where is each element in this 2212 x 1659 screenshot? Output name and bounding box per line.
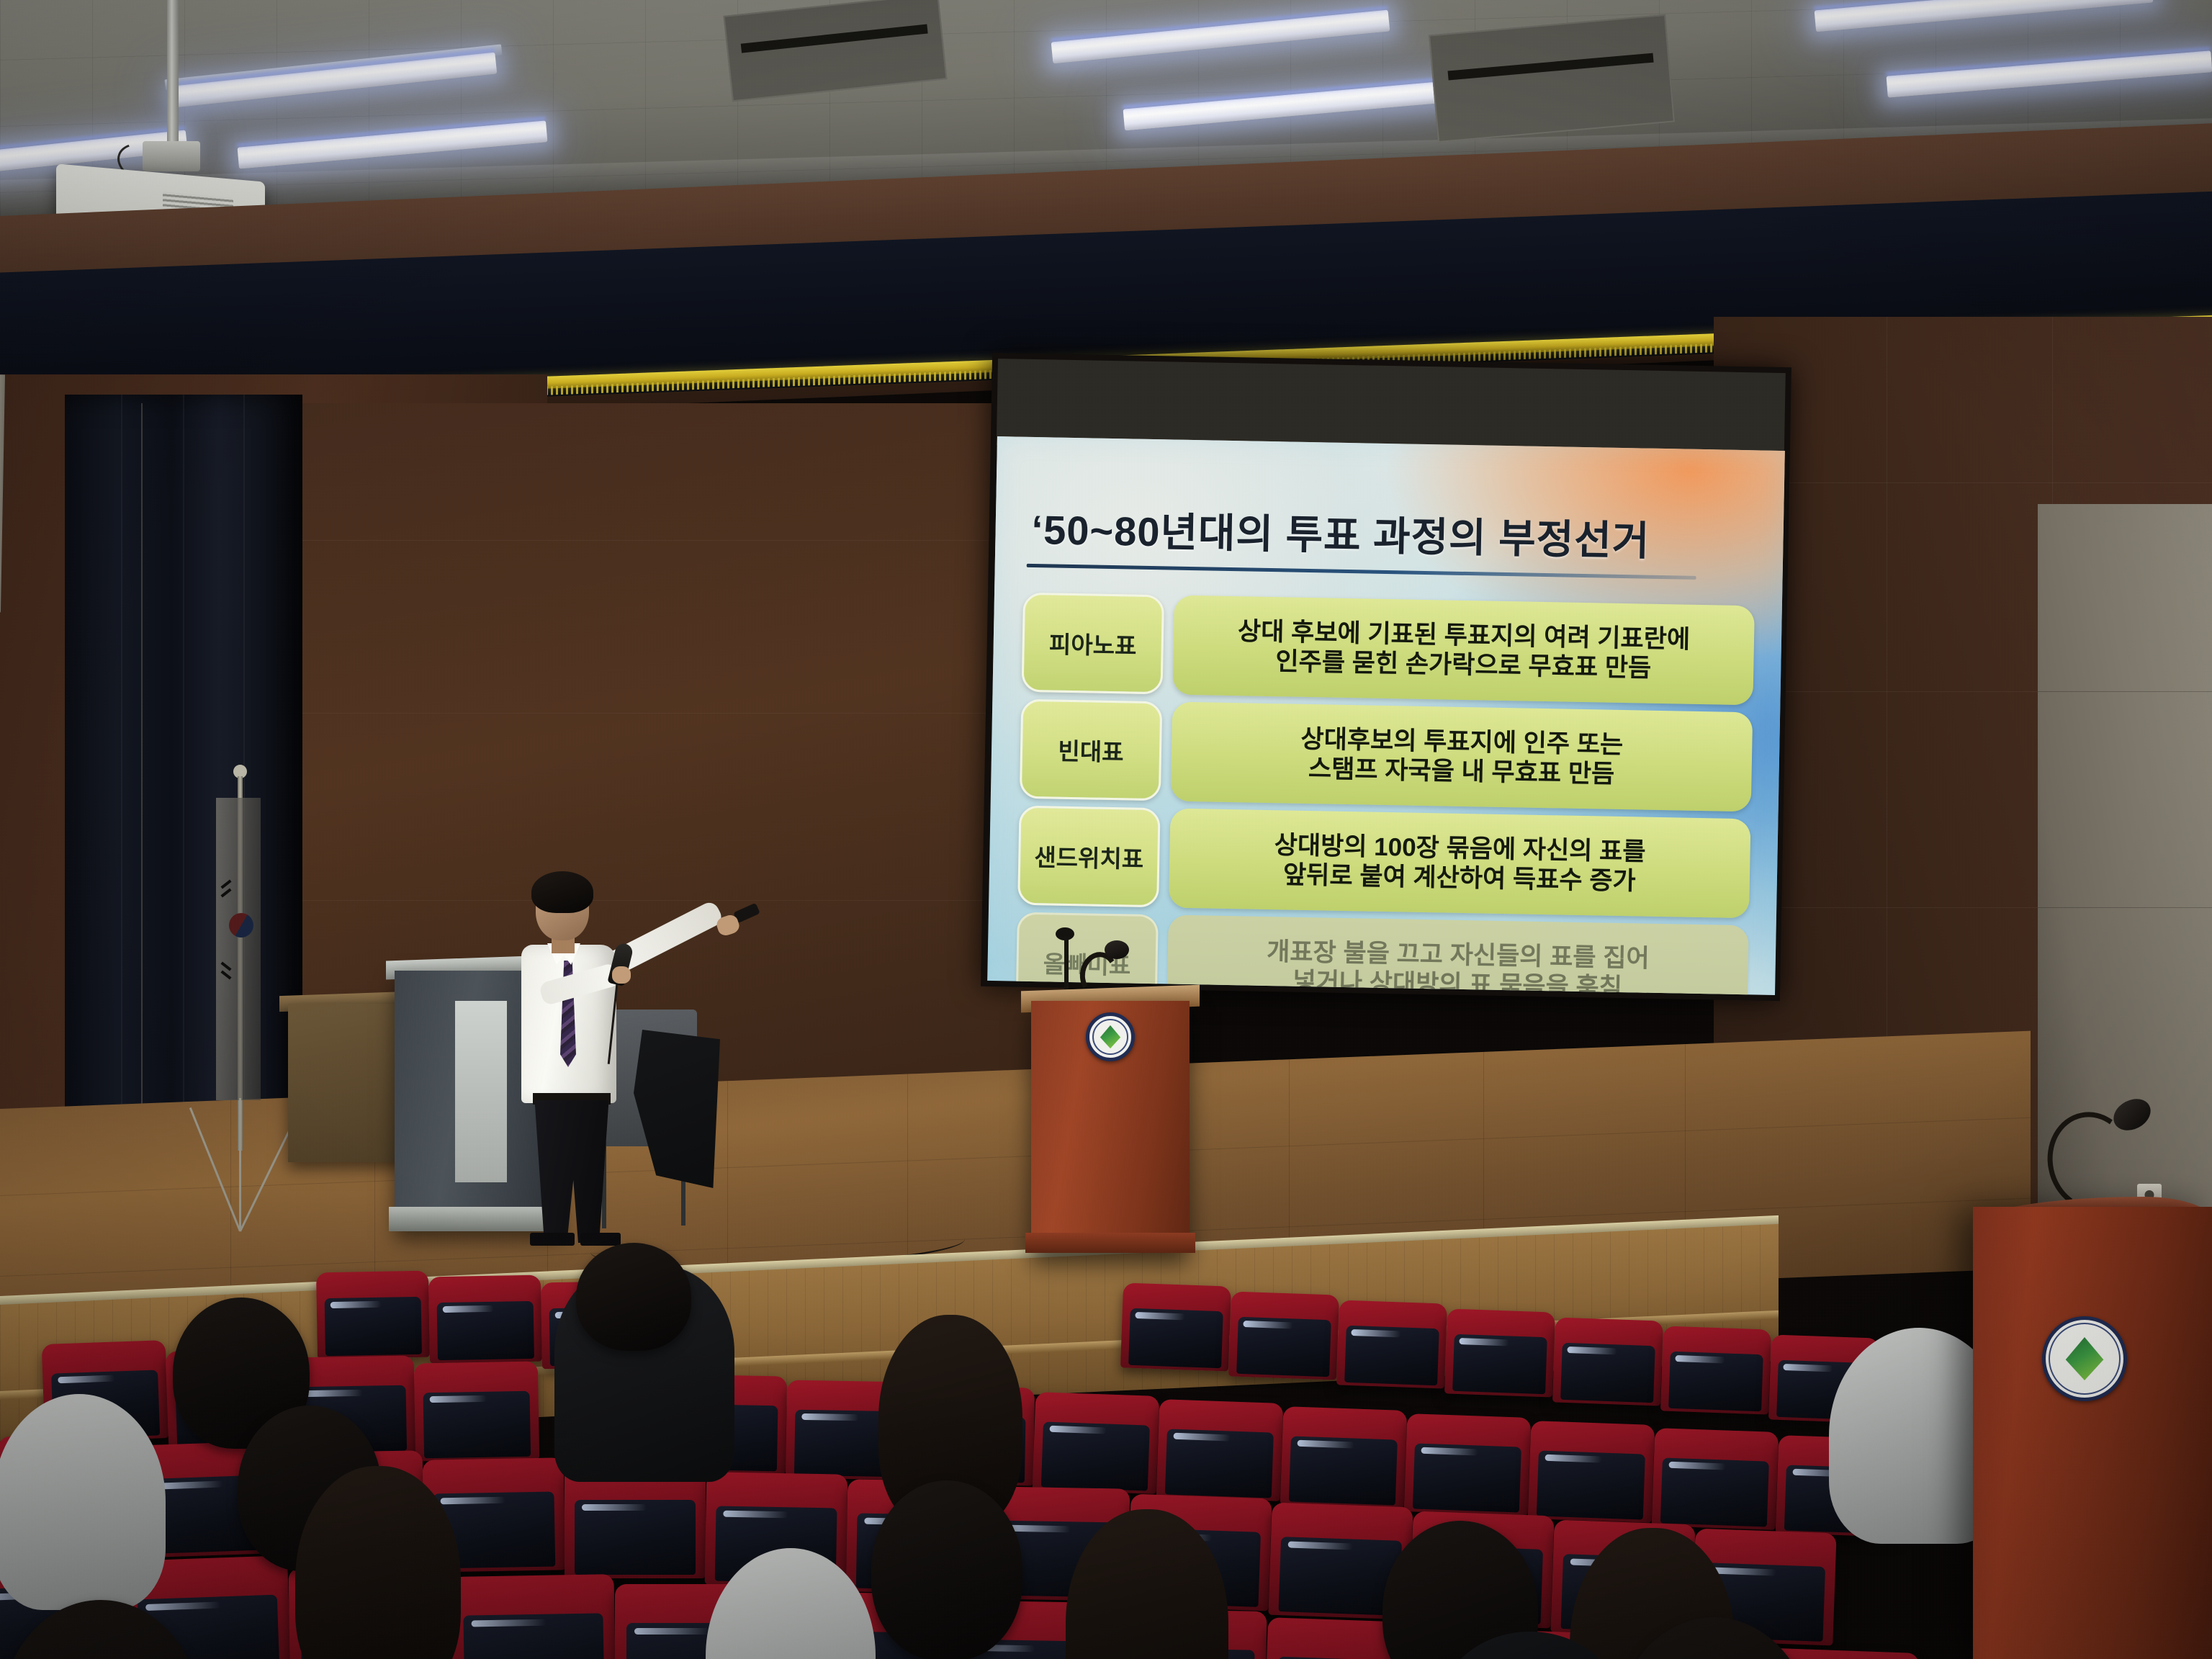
auditorium-seat — [1404, 1413, 1532, 1516]
microphone-capsule — [1105, 940, 1129, 959]
slide-row-term: 빈대표 — [1020, 699, 1162, 801]
slide-row-description: 상대 후보에 기표된 투표지의 여려 기표란에 인주를 묻힌 손가락으로 무효표… — [1172, 595, 1754, 706]
audience-member — [576, 1243, 691, 1351]
institutional-emblem — [2042, 1316, 2127, 1401]
slide-row-term: 샌드위치표 — [1017, 806, 1160, 908]
audience-member — [0, 1394, 166, 1610]
auditorium-seat — [1552, 1317, 1663, 1406]
slide-row-line2: 인주를 묻힌 손가락으로 무효표 만듬 — [1275, 647, 1652, 683]
presenter-trousers — [531, 1100, 612, 1243]
presenter-shoe — [580, 1233, 621, 1246]
institutional-emblem — [1086, 1012, 1135, 1061]
stage-curtain — [65, 395, 302, 1208]
auditorium-seat — [1228, 1291, 1339, 1380]
auditorium-seat — [316, 1271, 430, 1359]
slide-row: 빈대표 상대후보의 투표지에 인주 또는 스탬프 자국을 내 무효표 만듬 — [1020, 699, 1753, 812]
presenter-hair — [531, 871, 593, 913]
auditorium-seat — [1156, 1399, 1284, 1501]
slide-row-description: 상대방의 100장 묶음에 자신의 표를 앞뒤로 붙여 계산하여 득표수 증가 — [1169, 809, 1750, 919]
lectern-front-panel — [455, 1001, 507, 1182]
auditorium-seat — [1660, 1326, 1771, 1414]
projector-mount-pole — [167, 0, 179, 151]
emblem-mark — [2062, 1336, 2108, 1382]
slide-row: 피아노표 상대 후보에 기표된 투표지의 여려 기표란에 인주를 묻힌 손가락으… — [1022, 593, 1755, 706]
slide-row-description: 개표장 불을 끄고 자신들의 표를 집어 넣거나 상대방의 표 묶음을 훔침 — [1166, 915, 1748, 995]
slide-row-term: 피아노표 — [1022, 593, 1164, 695]
auditorium-seat — [451, 1574, 616, 1659]
slide-row: 샌드위치표 상대방의 100장 묶음에 자신의 표를 앞뒤로 붙여 계산하여 득… — [1017, 806, 1750, 919]
auditorium-seat — [1120, 1282, 1231, 1371]
auditorium-seat — [565, 1466, 706, 1578]
emblem-mark — [1098, 1025, 1123, 1049]
curtain-wire — [141, 403, 143, 1159]
auditorium-scene: ‘50~80년대의 투표 과정의 부정선거 피아노표 상대 후보에 기표된 투표… — [0, 0, 2212, 1659]
slide-row-line1: 개표장 불을 끄고 자신들의 표를 집어 — [1267, 938, 1650, 973]
auditorium-seat — [1336, 1300, 1447, 1388]
slide-row-description: 상대후보의 투표지에 인주 또는 스탬프 자국을 내 무효표 만듬 — [1171, 702, 1753, 812]
presenter-shoe — [530, 1233, 575, 1246]
podium-base — [1025, 1233, 1195, 1253]
audience-member — [871, 1480, 1022, 1659]
auditorium-seat — [1033, 1392, 1160, 1494]
slide-row-line2: 스탬프 자국을 내 무효표 만듬 — [1308, 755, 1615, 788]
projected-slide: ‘50~80년대의 투표 과정의 부정선거 피아노표 상대 후보에 기표된 투표… — [987, 436, 1785, 995]
auditorium-seat — [1528, 1421, 1655, 1523]
presenter — [504, 868, 691, 1243]
gooseneck-stem — [1064, 936, 1069, 994]
ceiling-air-vent — [1429, 14, 1675, 143]
slide-title: ‘50~80년대의 투표 과정의 부정선거 — [1031, 498, 1665, 567]
auditorium-seat — [1444, 1308, 1555, 1397]
south-korean-flag-taegukgi — [216, 798, 261, 1100]
auditorium-seat — [428, 1275, 542, 1364]
slide-row-line1: 상대후보의 투표지에 인주 또는 — [1300, 725, 1623, 759]
foreground-wooden-podium — [1973, 1207, 2212, 1659]
slide-row-line2: 앞뒤로 붙여 계산하여 득표수 증가 — [1283, 860, 1636, 895]
presenter-hand — [612, 966, 631, 984]
auditorium-seating-rows — [0, 1272, 2212, 1659]
slide-row-line1: 상대방의 100장 묶음에 자신의 표를 — [1274, 831, 1646, 866]
taeguk-circle — [229, 913, 253, 938]
auditorium-seat — [1652, 1428, 1779, 1530]
wooden-podium — [1031, 1001, 1190, 1253]
auditorium-seat — [414, 1362, 539, 1462]
auditorium-seat — [1280, 1406, 1408, 1509]
